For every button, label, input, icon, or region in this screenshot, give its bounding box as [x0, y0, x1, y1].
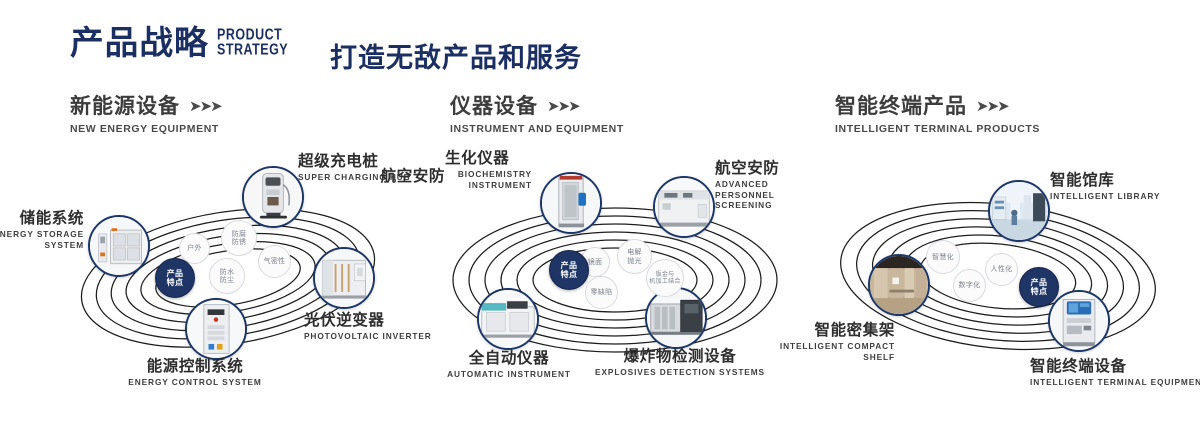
ev-charging-pile-icon: [244, 168, 302, 226]
label-intelligent-terminal-equipment: 智能终端设备 INTELLIGENT TERMINAL EQUIPMENT: [1030, 358, 1200, 388]
label-energy-storage: 储能系统 ENERGY STORAGE SYSTEM: [0, 210, 84, 250]
label-aviation-security-extra: 航空安防: [345, 168, 445, 185]
feature-bubble: 数字化: [953, 269, 986, 302]
node-intelligent-compact-shelf[interactable]: [868, 254, 930, 316]
node-photovoltaic-inverter[interactable]: [313, 247, 375, 309]
explosives-detector-icon: [647, 289, 705, 347]
smart-library-room-icon: [990, 182, 1048, 240]
poster-header: 产品战略 PRODUCT STRATEGY: [70, 26, 288, 59]
energy-storage-cabinet-icon: [90, 217, 148, 275]
core-line2: 特点: [167, 278, 184, 288]
core-bubble-product-features: 产品 特点: [1019, 267, 1059, 307]
core-line2: 特点: [561, 270, 578, 280]
pv-inverter-cabinet-icon: [315, 249, 373, 307]
page-title-english-line2: STRATEGY: [217, 42, 288, 57]
label-en: INTELLIGENT LIBRARY: [1050, 191, 1160, 202]
label-en: AUTOMATIC INSTRUMENT: [407, 369, 611, 380]
section-title-en: NEW ENERGY EQUIPMENT: [70, 123, 221, 135]
core-bubble-product-features: 产品 特点: [549, 250, 589, 290]
label-cn: 智能密集架: [755, 322, 895, 339]
section-title-en: INSTRUMENT AND EQUIPMENT: [450, 123, 624, 135]
feature-bubble: 智慧化: [926, 240, 960, 274]
feature-bubble: 防腐 防锈: [221, 220, 257, 256]
node-energy-control-system[interactable]: [185, 298, 247, 360]
label-cn: 光伏逆变器: [304, 312, 432, 329]
section-title-intelligent-terminal: 智能终端产品 ➤➤➤ INTELLIGENT TERMINAL PRODUCTS: [835, 96, 1040, 135]
node-advanced-personnel-screening[interactable]: [653, 176, 715, 238]
cluster-new-energy: 储能系统 ENERGY STORAGE SYSTEM 超级充电桩 SUPER C…: [40, 150, 440, 410]
core-bubble-product-features: 产品 特点: [155, 258, 195, 298]
chevron-right-icon: ➤➤➤: [189, 99, 221, 114]
section-title-cn: 新能源设备 ➤➤➤: [70, 96, 221, 117]
node-energy-storage[interactable]: [88, 215, 150, 277]
section-title-cn-text: 新能源设备: [70, 96, 180, 117]
core-line1: 产品: [561, 261, 578, 271]
chevron-right-icon: ➤➤➤: [547, 99, 579, 114]
label-cn: 能源控制系统: [80, 358, 310, 375]
label-en: BIOCHEMISTRY INSTRUMENT: [440, 169, 532, 190]
node-automatic-instrument[interactable]: [477, 288, 539, 350]
core-line2: 特点: [1031, 287, 1048, 297]
compact-shelving-icon: [870, 256, 928, 314]
screening-machine-icon: [655, 178, 713, 236]
section-title-cn: 智能终端产品 ➤➤➤: [835, 96, 1040, 117]
cluster-intelligent-terminal: 智能馆库 INTELLIGENT LIBRARY 智能终端设备 INTELLIG…: [800, 150, 1200, 410]
core-line1: 产品: [167, 269, 184, 279]
label-en: INTELLIGENT COMPACT SHELF: [755, 341, 895, 362]
label-cn: 航空安防: [715, 160, 813, 177]
label-energy-control-system: 能源控制系统 ENERGY CONTROL SYSTEM: [80, 358, 310, 388]
label-intelligent-library: 智能馆库 INTELLIGENT LIBRARY: [1050, 172, 1160, 202]
label-cn: 航空安防: [345, 168, 445, 185]
node-intelligent-library[interactable]: [988, 180, 1050, 242]
section-title-cn-text: 仪器设备: [450, 96, 538, 117]
section-title-new-energy: 新能源设备 ➤➤➤ NEW ENERGY EQUIPMENT: [70, 96, 221, 135]
feature-bubble: 零缺陷: [585, 276, 618, 309]
feature-bubble: 防水 防尘: [209, 258, 245, 294]
self-service-kiosk-icon: [1050, 292, 1108, 350]
chevron-right-icon: ➤➤➤: [976, 99, 1008, 114]
page-title-english: PRODUCT STRATEGY: [217, 27, 288, 57]
node-explosives-detection[interactable]: [645, 287, 707, 349]
feature-bubble: 电解 抛光: [617, 239, 652, 274]
section-title-cn-text: 智能终端产品: [835, 96, 967, 117]
feature-bubble: 钣金与 机加工结合: [646, 259, 684, 297]
label-en: PHOTOVOLTAIC INVERTER: [304, 331, 432, 342]
label-intelligent-compact-shelf: 智能密集架 INTELLIGENT COMPACT SHELF: [755, 322, 895, 362]
section-title-instrument: 仪器设备 ➤➤➤ INSTRUMENT AND EQUIPMENT: [450, 96, 624, 135]
automatic-analyzer-icon: [479, 290, 537, 348]
section-title-en: INTELLIGENT TERMINAL PRODUCTS: [835, 123, 1040, 135]
page-title: 产品战略: [70, 26, 209, 59]
label-cn: 全自动仪器: [407, 350, 611, 367]
feature-bubble: 气密性: [258, 245, 291, 278]
label-cn: 智能终端设备: [1030, 358, 1200, 375]
biochemistry-scanner-icon: [542, 174, 600, 232]
node-super-charging-hub[interactable]: [242, 166, 304, 228]
section-title-cn: 仪器设备 ➤➤➤: [450, 96, 624, 117]
label-en: ENERGY STORAGE SYSTEM: [0, 229, 84, 250]
page-subtitle: 打造无敌产品和服务: [330, 36, 582, 75]
label-automatic-instrument: 全自动仪器 AUTOMATIC INSTRUMENT: [407, 350, 611, 380]
label-cn: 储能系统: [0, 210, 84, 227]
label-en: INTELLIGENT TERMINAL EQUIPMENT: [1030, 377, 1200, 388]
core-line1: 产品: [1031, 278, 1048, 288]
label-photovoltaic-inverter: 光伏逆变器 PHOTOVOLTAIC INVERTER: [304, 312, 432, 342]
label-en: ADVANCED PERSONNEL SCREENING: [715, 179, 813, 211]
feature-bubble: 人性化: [985, 253, 1018, 286]
label-cn: 智能馆库: [1050, 172, 1160, 189]
poster-canvas: 产品战略 PRODUCT STRATEGY 打造无敌产品和服务 新能源设备 ➤➤…: [0, 0, 1200, 422]
label-cn: 生化仪器: [445, 150, 532, 167]
control-cabinet-icon: [187, 300, 245, 358]
node-biochemistry-instrument[interactable]: [540, 172, 602, 234]
label-en: ENERGY CONTROL SYSTEM: [80, 377, 310, 388]
cluster-instrument: 生化仪器 BIOCHEMISTRY INSTRUMENT 航空安防 航空安防 A…: [415, 150, 815, 410]
node-intelligent-terminal-equipment[interactable]: [1048, 290, 1110, 352]
label-advanced-personnel-screening: 航空安防 ADVANCED PERSONNEL SCREENING: [715, 160, 813, 211]
label-biochemistry-instrument: 生化仪器 BIOCHEMISTRY INSTRUMENT: [445, 150, 532, 190]
